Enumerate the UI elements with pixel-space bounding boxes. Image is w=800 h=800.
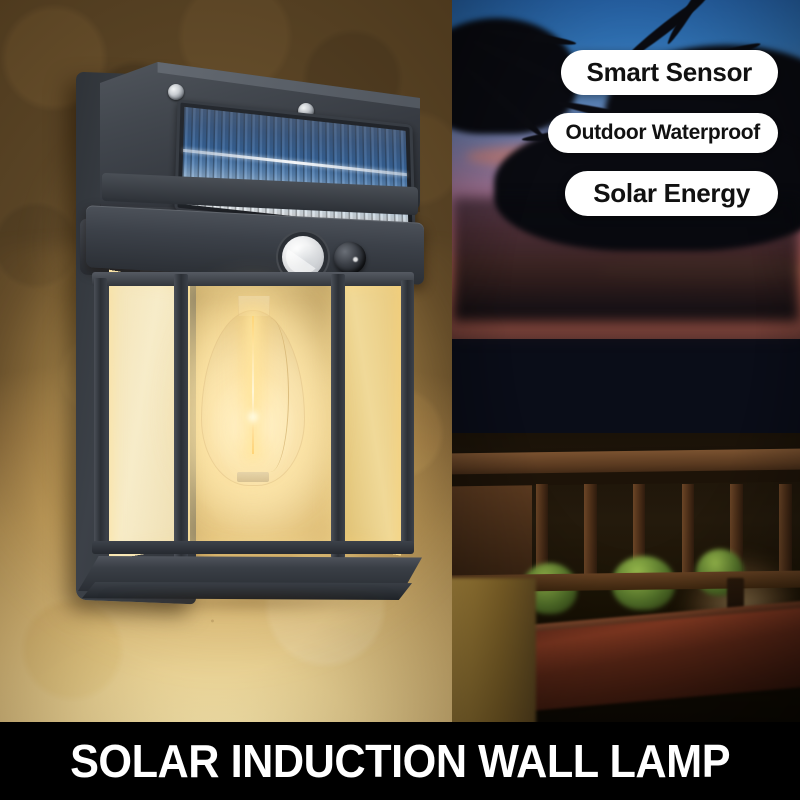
lantern-top-rail (92, 272, 414, 286)
light-sensor-icon (334, 242, 366, 274)
left-panel-lamp-on-wall (0, 0, 452, 722)
feature-badge-list: Smart Sensor Outdoor Waterproof Solar En… (548, 50, 778, 216)
screw-icon (168, 84, 184, 100)
solar-wall-lamp (72, 62, 434, 622)
right-panel-dusk-patio: Smart Sensor Outdoor Waterproof Solar En… (452, 0, 800, 722)
lantern-post-right (401, 280, 414, 552)
product-title: SOLAR INDUCTION WALL LAMP (70, 734, 730, 788)
feature-badge-solar-energy[interactable]: Solar Energy (565, 171, 778, 216)
lantern-bottom-rail (92, 541, 414, 554)
bottom-title-banner: SOLAR INDUCTION WALL LAMP (0, 722, 800, 800)
lantern-post-left (94, 278, 107, 552)
lantern-post-mid-left (174, 274, 188, 558)
lamp-drop-shadow (72, 596, 424, 622)
feature-badge-outdoor-waterproof[interactable]: Outdoor Waterproof (548, 113, 778, 153)
glass-lantern-housing (88, 274, 418, 562)
lantern-post-mid-right (331, 274, 345, 558)
bulb-inner-wire (252, 318, 289, 472)
bulb-base (237, 472, 269, 482)
feature-badge-smart-sensor[interactable]: Smart Sensor (561, 50, 778, 95)
product-marketing-image: Smart Sensor Outdoor Waterproof Solar En… (0, 0, 800, 800)
